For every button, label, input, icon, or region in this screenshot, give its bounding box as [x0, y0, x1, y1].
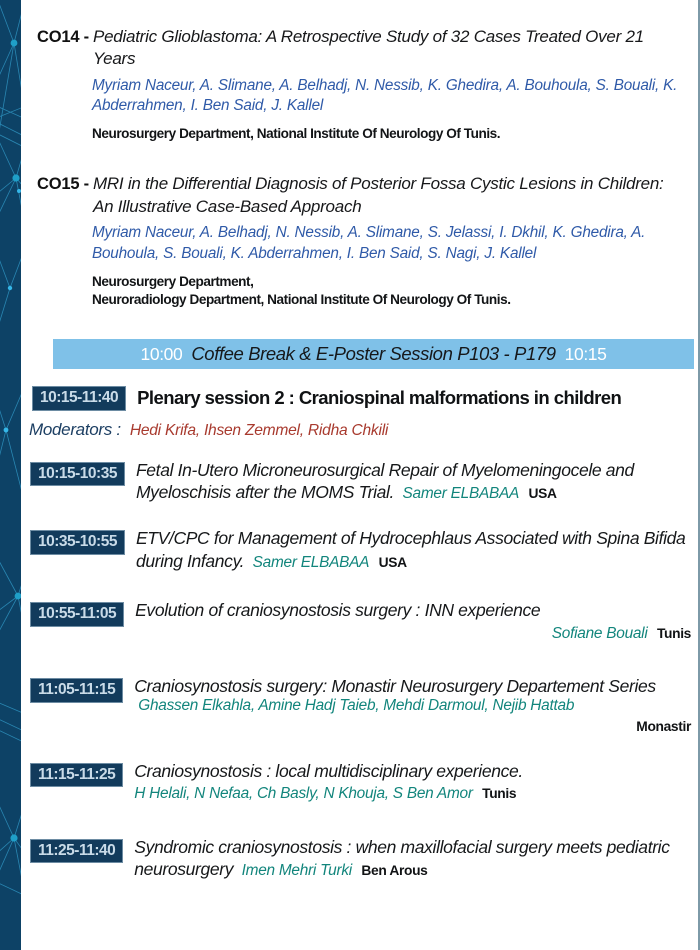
- talk-body: ETV/CPC for Management of Hydrocephlaus …: [136, 527, 691, 572]
- talk-city: Monastir: [636, 719, 691, 734]
- talk-speaker: Sofiane Bouali: [552, 625, 648, 642]
- talk-city: Tunis: [657, 626, 691, 641]
- talk-credit: Sofiane Bouali Tunis: [135, 624, 691, 644]
- talk-body: Evolution of craniosynostosis surgery : …: [135, 599, 691, 644]
- network-pattern-graphic: [0, 0, 21, 950]
- talk-row: 11:05-11:15 Craniosynostosis surgery: Mo…: [30, 675, 697, 738]
- talk-title: Evolution of craniosynostosis surgery : …: [135, 600, 540, 620]
- talk-row: 10:35-10:55 ETV/CPC for Management of Hy…: [30, 527, 697, 572]
- affiliation-line-1: Neurosurgery Department,: [92, 273, 683, 291]
- plenary-time-badge: 10:15-11:40: [32, 386, 126, 411]
- talk-body: Craniosynostosis : local multidisciplina…: [134, 760, 691, 805]
- abstract-authors: Myriam Naceur, A. Belhadj, N. Nessib, A.…: [92, 223, 683, 263]
- abstract-code: CO15 -: [37, 175, 89, 194]
- talk-time-badge: 11:15-11:25: [30, 763, 123, 788]
- decorative-side-rail: [0, 0, 21, 950]
- talk-row: 10:55-11:05 Evolution of craniosynostosi…: [30, 599, 697, 644]
- talk-speaker: Ghassen Elkahla, Amine Hadj Taieb, Mehdi…: [138, 697, 574, 714]
- talk-body: Syndromic craniosynostosis : when maxill…: [134, 836, 691, 881]
- talk-speaker: Samer ELBABAA: [403, 485, 520, 502]
- coffee-break-label: Coffee Break & E-Poster Session P103 - P…: [191, 343, 555, 365]
- talk-title: Fetal In-Utero Microneurosurgical Repair…: [136, 460, 634, 502]
- abstract-code: CO14 -: [37, 28, 89, 47]
- talk-title: ETV/CPC for Management of Hydrocephlaus …: [136, 528, 685, 570]
- talk-row: 11:15-11:25 Craniosynostosis : local mul…: [30, 760, 697, 805]
- moderators-row: Moderators : Hedi Krifa, Ihsen Zemmel, R…: [29, 420, 697, 440]
- coffee-break-end-time: 10:15: [565, 344, 607, 365]
- abstract-title: MRI in the Differential Diagnosis of Pos…: [93, 173, 683, 218]
- abstract-title-line: CO15 - MRI in the Differential Diagnosis…: [37, 173, 683, 218]
- abstract-affiliation: Neurosurgery Department, Neuroradiology …: [92, 273, 683, 309]
- abstract-authors: Myriam Naceur, A. Slimane, A. Belhadj, N…: [92, 76, 683, 116]
- coffee-break-start-time: 10:00: [141, 344, 183, 365]
- talk-time-badge: 11:05-11:15: [30, 678, 123, 703]
- abstract-entry-co14: CO14 - Pediatric Glioblastoma: A Retrosp…: [21, 0, 697, 143]
- program-page-content: CO14 - Pediatric Glioblastoma: A Retrosp…: [21, 0, 697, 950]
- talk-title: Craniosynostosis : local multidisciplina…: [134, 761, 523, 781]
- plenary-session-title: Plenary session 2 : Craniospinal malform…: [137, 387, 621, 409]
- abstract-title: Pediatric Glioblastoma: A Retrospective …: [93, 26, 683, 71]
- talk-body: Craniosynostosis surgery: Monastir Neuro…: [134, 675, 691, 738]
- talk-city: Ben Arous: [361, 863, 427, 878]
- talk-body: Fetal In-Utero Microneurosurgical Repair…: [136, 459, 691, 504]
- talk-time-badge: 11:25-11:40: [30, 839, 123, 864]
- talk-speaker: Samer ELBABAA: [253, 554, 370, 571]
- talk-time-badge: 10:55-11:05: [30, 602, 124, 627]
- talk-city: Tunis: [482, 786, 516, 801]
- talk-city: USA: [379, 555, 407, 570]
- affiliation-line-2: Neuroradiology Department, National Inst…: [92, 291, 683, 309]
- talk-speaker: H Helali, N Nefaa, Ch Basly, N Khouja, S…: [134, 785, 472, 802]
- talk-time-badge: 10:35-10:55: [30, 530, 125, 555]
- plenary-session-header: 10:15-11:40 Plenary session 2 : Craniosp…: [32, 386, 697, 411]
- coffee-break-banner: 10:00 Coffee Break & E-Poster Session P1…: [53, 339, 694, 369]
- talk-credit: Monastir: [134, 717, 691, 737]
- abstract-title-line: CO14 - Pediatric Glioblastoma: A Retrosp…: [37, 26, 683, 71]
- talk-title: Craniosynostosis surgery: Monastir Neuro…: [134, 676, 656, 696]
- moderators-names: Hedi Krifa, Ihsen Zemmel, Ridha Chkili: [130, 422, 388, 440]
- talk-speaker: Imen Mehri Turki: [242, 862, 352, 879]
- talk-city: USA: [529, 486, 557, 501]
- talk-time-badge: 10:15-10:35: [30, 462, 125, 487]
- abstract-entry-co15: CO15 - MRI in the Differential Diagnosis…: [21, 143, 697, 309]
- moderators-label: Moderators :: [29, 420, 121, 440]
- talk-credit: H Helali, N Nefaa, Ch Basly, N Khouja, S…: [134, 784, 691, 804]
- talk-row: 10:15-10:35 Fetal In-Utero Microneurosur…: [30, 459, 697, 504]
- abstract-affiliation: Neurosurgery Department, National Instit…: [92, 125, 683, 143]
- talk-row: 11:25-11:40 Syndromic craniosynostosis :…: [30, 836, 697, 881]
